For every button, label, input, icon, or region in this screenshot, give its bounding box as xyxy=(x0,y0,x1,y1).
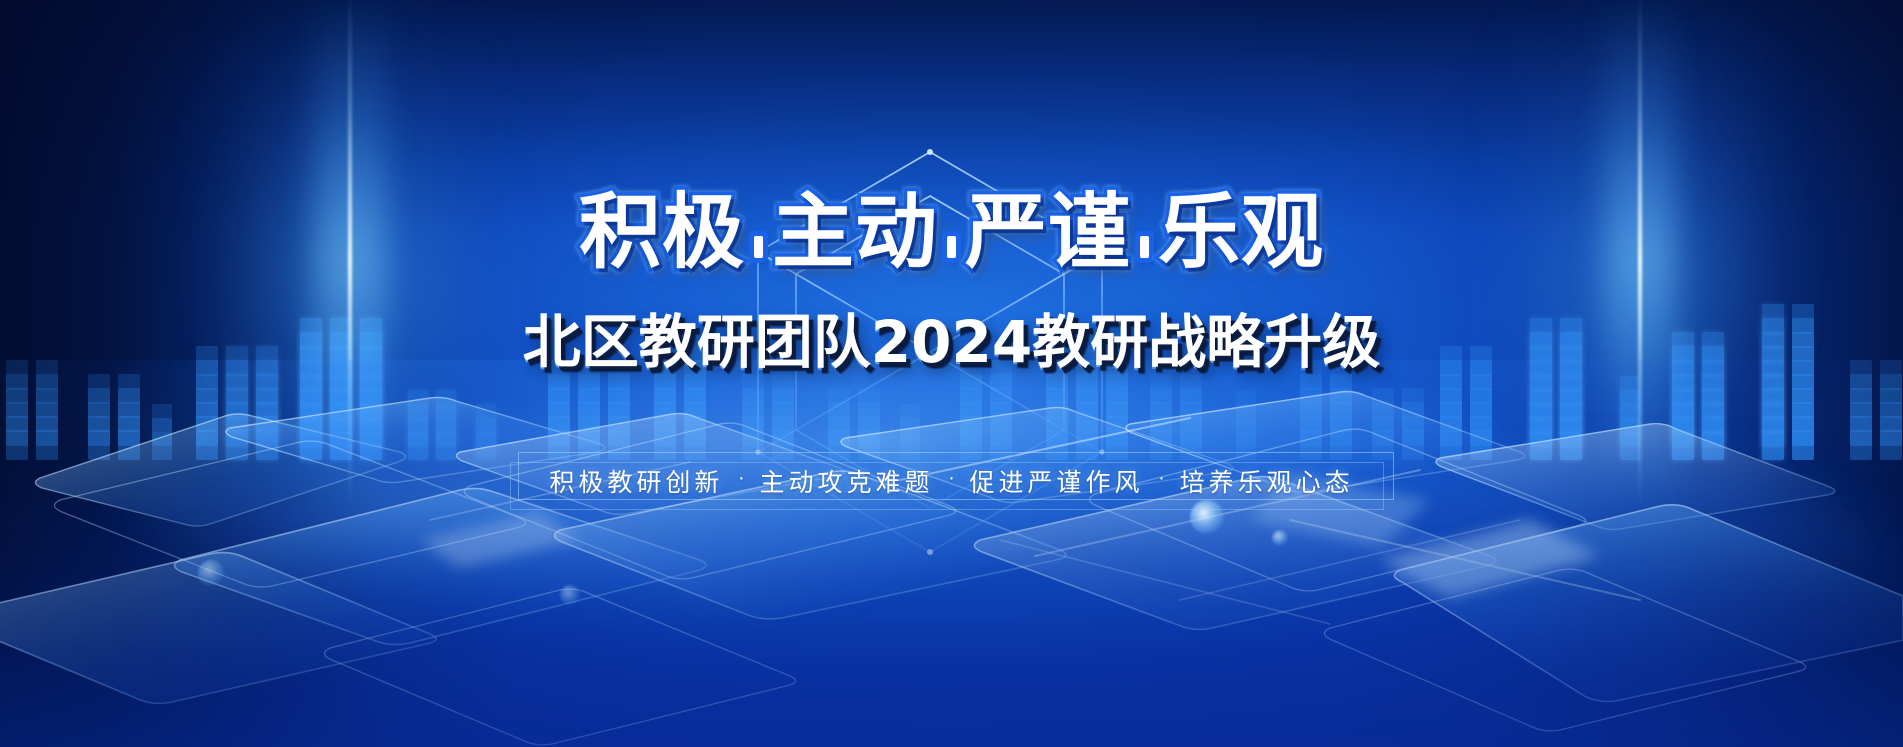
title-segment-2: 主动 xyxy=(772,192,938,274)
tagline-bar: 积极教研创新 · 主动攻克难题 · 促进严谨作风 · 培养乐观心态 xyxy=(510,452,1394,510)
tagline-item-1: 积极教研创新 xyxy=(547,463,725,499)
tagline-item-2: 主动攻克难题 xyxy=(757,463,935,499)
title-separator-dot xyxy=(754,236,763,258)
subtitle-row: 北区教研团队2024教研战略升级 xyxy=(0,305,1903,379)
title-separator-dot xyxy=(1140,236,1149,258)
subtitle: 北区教研团队2024教研战略升级 xyxy=(523,313,1380,371)
tagline-separator: · xyxy=(1146,468,1178,490)
title-segment-3: 严谨 xyxy=(965,192,1131,274)
main-title: 积极 主动 严谨 乐观 xyxy=(0,178,1903,288)
tagline-text: 积极教研创新 · 主动攻克难题 · 促进严谨作风 · 培养乐观心态 xyxy=(510,452,1394,510)
tagline-separator: · xyxy=(935,468,967,490)
title-separator-dot xyxy=(947,236,956,258)
title-segment-1: 积极 xyxy=(579,192,745,274)
tagline-item-3: 促进严谨作风 xyxy=(968,463,1146,499)
title-segment-4: 乐观 xyxy=(1158,192,1324,274)
tagline-item-4: 培养乐观心态 xyxy=(1178,463,1356,499)
banner-canvas: 积极 主动 严谨 乐观 北区教研团队2024教研战略升级 积极教研创新 · 主动… xyxy=(0,0,1903,747)
tagline-separator: · xyxy=(725,468,757,490)
